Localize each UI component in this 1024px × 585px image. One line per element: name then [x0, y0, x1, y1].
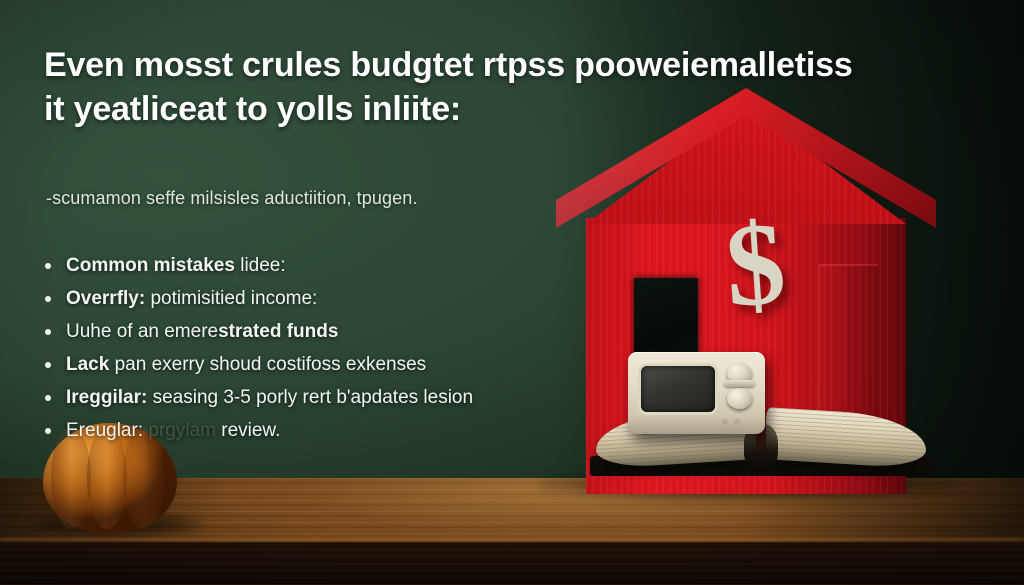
bullet-item: Ireggilar: seasing 3-5 porly rert b'apda… [44, 385, 564, 410]
bullet-lead: Common mistakes [66, 255, 235, 276]
card-title: Even mosst crules budgtet rtpss pooweiem… [44, 44, 924, 132]
bullet-item: Uuhe of an emerestrated funds [44, 319, 564, 344]
bullet-item: Ereuglar: prgylam review. [44, 418, 564, 443]
bullet-rest: potimisitied income: [145, 288, 317, 309]
infographic-card: $ Even mosst crules budgtet rtpss poowei… [0, 0, 1024, 585]
card-subtitle: -scumamon seffe milsisles aductiition, t… [46, 188, 417, 209]
bullet-lead: Ereuglar: [66, 420, 143, 441]
bullet-rest: lidee: [235, 255, 286, 276]
bullet-rest: review. [216, 420, 280, 441]
bullet-rest: strated funds [218, 321, 338, 342]
bullet-lead: Uuhe of an emere [66, 321, 218, 342]
bullet-rest: seasing 3-5 porly rert b'apdates lesion [147, 387, 473, 408]
bullet-item: Common mistakes lidee: [44, 253, 564, 278]
bullet-lead: Overrfly: [66, 288, 145, 309]
bullet-faded-text: prgylam [143, 420, 216, 441]
bullet-lead: Lack [66, 354, 109, 375]
bullet-item: Overrfly: potimisitied income: [44, 286, 564, 311]
bullet-list: Common mistakes lidee:Overrfly: potimisi… [44, 253, 564, 451]
bullet-lead: Ireggilar: [66, 387, 147, 408]
bullet-rest: pan exerry shoud costifoss exkenses [109, 354, 426, 375]
bullet-item: Lack pan exerry shoud costifoss exkenses [44, 352, 564, 377]
